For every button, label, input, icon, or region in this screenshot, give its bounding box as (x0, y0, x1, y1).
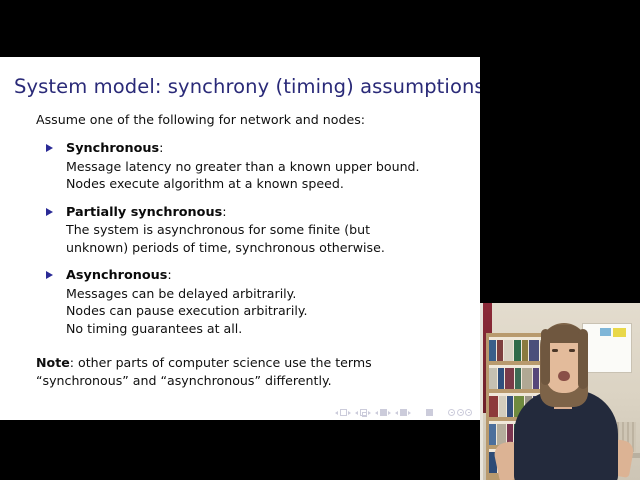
presentation-box-icon[interactable] (426, 409, 433, 416)
list-item-line: The system is asynchronous for some fini… (66, 221, 480, 238)
webcam-hair-left (541, 329, 550, 385)
list-item-term: Asynchronous (66, 268, 167, 283)
webcam-mouth (558, 371, 570, 381)
subsection-previous-icon[interactable] (375, 411, 378, 415)
list-item-colon: : (167, 268, 171, 283)
webcam-left-edge (480, 303, 483, 480)
slide-body: Assume one of the following for network … (0, 113, 480, 390)
slide-box-icon[interactable] (340, 409, 347, 416)
section-next-icon[interactable] (408, 411, 411, 415)
webcam-eye-right (569, 349, 575, 352)
list-item-term: Synchronous (66, 141, 159, 156)
subsection-next-icon[interactable] (388, 411, 391, 415)
slide-note-label: Note (36, 355, 70, 370)
presenter-webcam[interactable] (480, 295, 640, 480)
beamer-navigation-symbols[interactable] (335, 409, 472, 416)
document-navigation-group[interactable] (448, 409, 472, 416)
triangle-right-icon (46, 208, 53, 216)
list-item-colon: : (222, 205, 226, 220)
frame-navigation-group[interactable] (355, 409, 371, 416)
section-previous-icon[interactable] (395, 411, 398, 415)
section-navigation-group[interactable] (395, 409, 411, 416)
triangle-right-icon (46, 144, 53, 152)
list-item-line: Nodes execute algorithm at a known speed… (66, 175, 480, 192)
list-item-term-row: Synchronous: (66, 141, 480, 158)
frame-next-icon[interactable] (368, 411, 371, 415)
slide-note-rest: : other parts of computer science use th… (70, 355, 372, 370)
forward-icon[interactable] (465, 409, 472, 416)
screen-capture: System model: synchrony (timing) assumpt… (0, 0, 640, 480)
list-item: Synchronous: Message latency no greater … (0, 141, 480, 193)
whiteboard-note-blue (600, 328, 611, 336)
webcam-eye-left (552, 349, 558, 352)
section-box-icon[interactable] (400, 409, 407, 416)
slide-next-icon[interactable] (348, 411, 351, 415)
slide-note-line-2: “synchronous” and “asynchronous” differe… (36, 372, 456, 390)
page-title: System model: synchrony (timing) assumpt… (14, 75, 466, 98)
frame-stack-icon[interactable] (360, 409, 367, 416)
webcam-whiteboard (582, 323, 632, 373)
frame-previous-icon[interactable] (355, 411, 358, 415)
webcam-video-frame (480, 295, 640, 480)
list-item-line: No timing guarantees at all. (66, 320, 480, 337)
whiteboard-note-yellow (613, 328, 626, 337)
list-item-term-row: Asynchronous: (66, 268, 480, 285)
list-item-line: Messages can be delayed arbitrarily. (66, 285, 480, 302)
list-item-term-row: Partially synchronous: (66, 205, 480, 222)
list-item-line: Nodes can pause execution arbitrarily. (66, 302, 480, 319)
list-item-line: Message latency no greater than a known … (66, 158, 480, 175)
slide-note-line-1: Note: other parts of computer science us… (36, 354, 456, 372)
slide-previous-icon[interactable] (335, 411, 338, 415)
triangle-right-icon (46, 271, 53, 279)
back-icon[interactable] (448, 409, 455, 416)
list-item: Asynchronous: Messages can be delayed ar… (0, 268, 480, 337)
presentation-slide: System model: synchrony (timing) assumpt… (0, 57, 480, 420)
list-item-colon: : (159, 141, 163, 156)
slide-note: Note: other parts of computer science us… (36, 354, 456, 390)
webcam-hair-right (578, 329, 588, 389)
slide-navigation-group[interactable] (335, 409, 351, 416)
list-item-line: unknown) periods of time, synchronous ot… (66, 239, 480, 256)
webcam-letterbox (480, 295, 640, 303)
list-item: Partially synchronous: The system is asy… (0, 205, 480, 257)
subsection-box-icon[interactable] (380, 409, 387, 416)
find-icon[interactable] (457, 409, 464, 416)
subsection-navigation-group[interactable] (375, 409, 391, 416)
slide-lead-line: Assume one of the following for network … (36, 113, 480, 128)
list-item-term: Partially synchronous (66, 205, 222, 220)
